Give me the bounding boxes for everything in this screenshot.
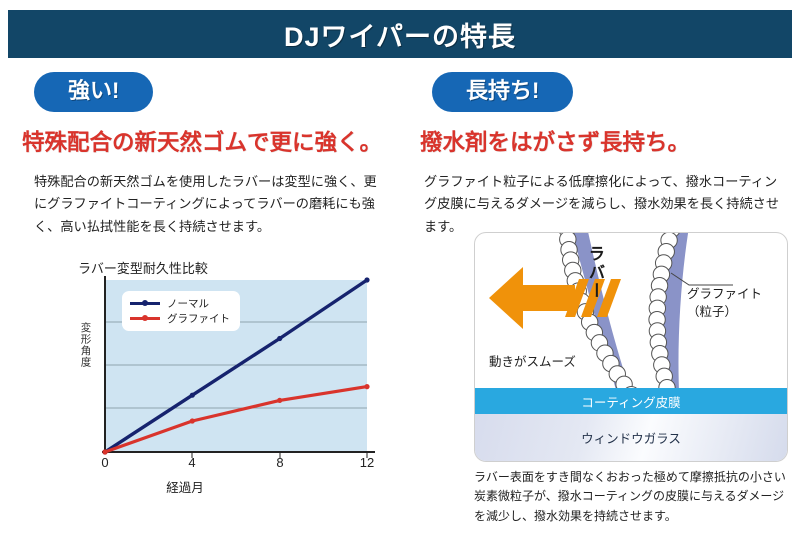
right-heading-text: 撥水剤をはがさず長持ち。 <box>420 130 690 155</box>
series-points-graphite <box>102 384 369 455</box>
x-tick-label-12: 12 <box>360 455 374 470</box>
right-heading: 撥水剤をはがさず長持ち。 <box>420 129 690 156</box>
graphite-label-line1: グラファイト <box>687 285 762 303</box>
chart-title: ラバー変型耐久性比較 <box>78 258 208 277</box>
graphite-label-line2: （粒子） <box>687 303 762 321</box>
chart-legend: ノーマル グラファイト <box>122 291 240 331</box>
left-heading: 特殊配合の新天然ゴムで更に強く。 <box>22 129 382 156</box>
legend-swatch-graphite <box>130 317 160 320</box>
glass-layer: ウィンドウガラス <box>475 414 787 461</box>
data-point <box>190 418 195 423</box>
legend-label-graphite: グラファイト <box>167 311 230 326</box>
x-tick-label-8: 8 <box>276 455 283 470</box>
header-bar: DJワイパーの特長 <box>8 10 792 58</box>
left-heading-text: 特殊配合の新天然ゴムで更に強く。 <box>22 130 382 155</box>
legend-item-normal: ノーマル <box>130 296 230 311</box>
legend-swatch-normal <box>130 302 160 305</box>
data-point <box>277 398 282 403</box>
smooth-motion-label: 動きがスムーズ <box>489 351 576 370</box>
right-pill-wrap: 長持ち! <box>432 72 790 112</box>
data-point <box>190 393 195 398</box>
chart-x-axis-label: 経過月 <box>0 477 370 496</box>
badge-strong: 強い! <box>34 72 153 112</box>
coating-layer: コーティング皮膜 <box>475 388 787 414</box>
data-point <box>102 449 107 454</box>
x-tick-label-4: 4 <box>188 455 195 470</box>
diagram-caption: ラバー表面をすき間なくおおった極めて摩擦抵抗の小さい炭素微粒子が、撥水コーティン… <box>474 468 794 526</box>
left-body-text: 特殊配合の新天然ゴムを使用したラバーは変型に強く、更にグラファイトコーティングに… <box>34 171 389 239</box>
data-point <box>102 449 107 454</box>
legend-item-graphite: グラファイト <box>130 311 230 326</box>
data-point <box>364 384 369 389</box>
data-point <box>364 277 369 282</box>
graphite-label: グラファイト （粒子） <box>687 285 762 321</box>
x-tick-label-0: 0 <box>101 455 108 470</box>
rubber-label: ラバー <box>583 245 607 301</box>
right-column: 長持ち! 撥水剤をはがさず長持ち。 グラファイト粒子による低摩擦化によって、撥水… <box>420 72 790 239</box>
page-title: DJワイパーの特長 <box>284 15 516 54</box>
right-body-text: グラファイト粒子による低摩擦化によって、撥水コーティング皮膜に与えるダメージを減… <box>424 171 784 239</box>
chart-y-axis-label: 変形角度 <box>80 322 91 368</box>
coating-layer-label: コーティング皮膜 <box>581 392 680 411</box>
direction-arrow-icon <box>489 267 575 329</box>
left-pill-wrap: 強い! <box>34 72 412 112</box>
legend-label-normal: ノーマル <box>167 296 209 311</box>
rubber-graphite-diagram: ラバー グラファイト （粒子） 動きがスムーズ コーティング皮膜 ウィンドウガラ… <box>474 232 788 462</box>
glass-layer-label: ウィンドウガラス <box>581 428 681 447</box>
left-column: 強い! 特殊配合の新天然ゴムで更に強く。 特殊配合の新天然ゴムを使用したラバーは… <box>22 72 412 239</box>
data-point <box>277 336 282 341</box>
series-line-graphite <box>105 387 367 452</box>
page-root: DJワイパーの特長 強い! 特殊配合の新天然ゴムで更に強く。 特殊配合の新天然ゴ… <box>0 0 800 560</box>
badge-longlasting: 長持ち! <box>432 72 573 112</box>
